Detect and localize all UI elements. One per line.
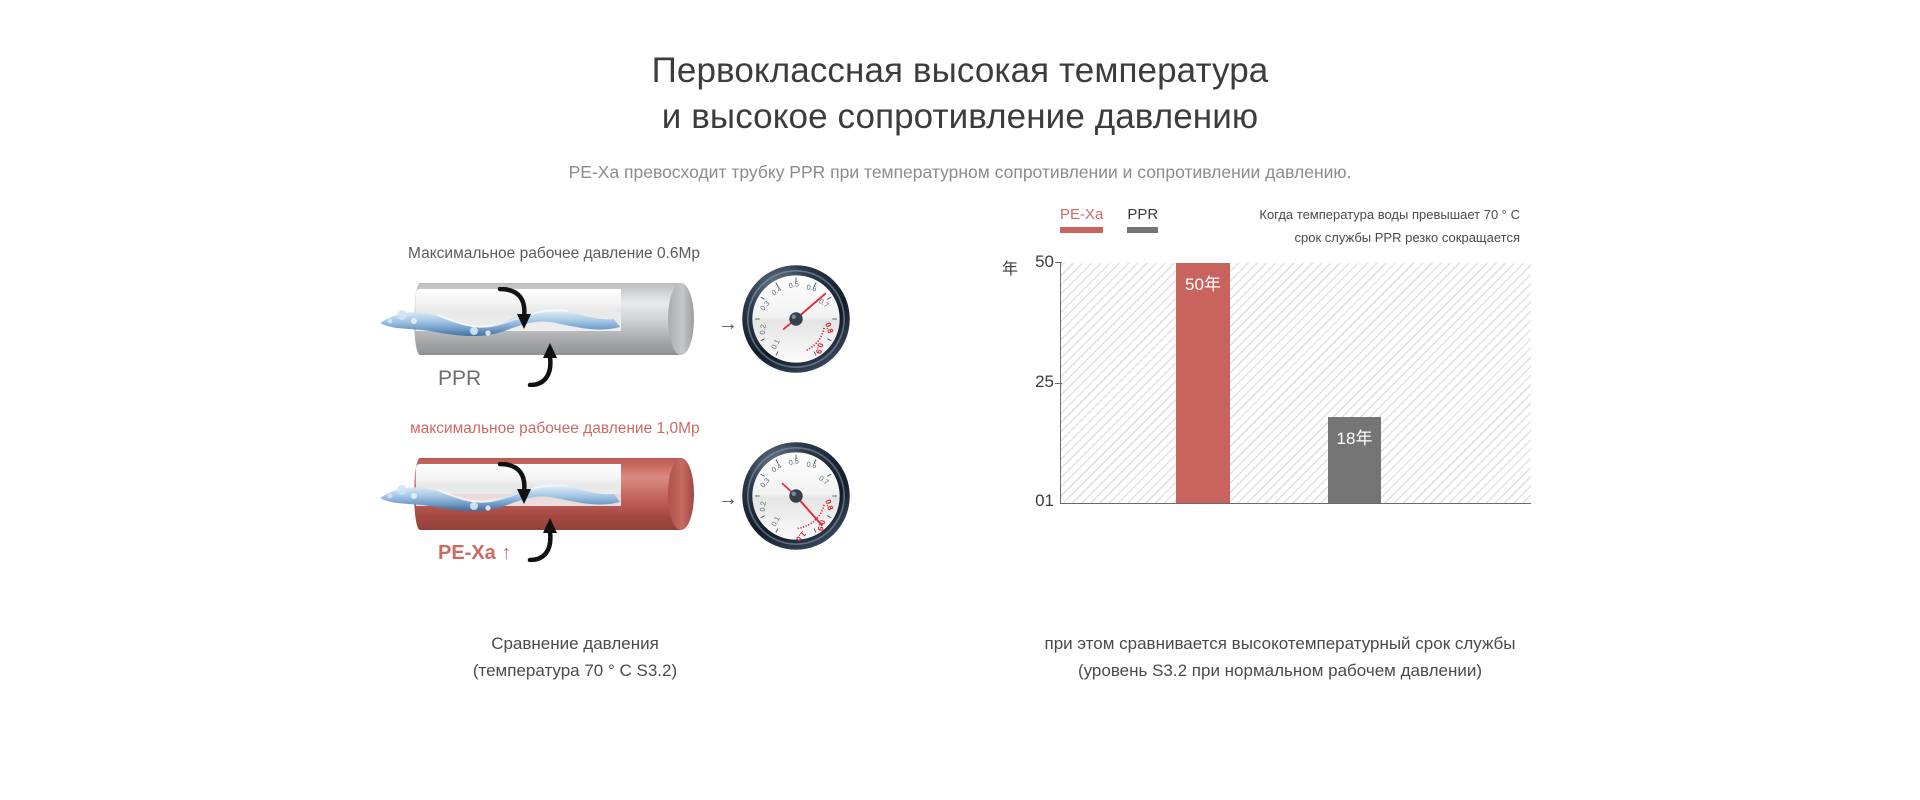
- service-life-caption-line-1: при этом сравнивается высокотемпературны…: [1000, 630, 1560, 657]
- pressure-caption-line-2: (температура 70 ° C S3.2): [380, 657, 770, 684]
- y-axis-unit-label: 年: [1002, 255, 1018, 279]
- flow-direction-arrow-icon: →: [718, 313, 738, 336]
- flow-direction-arrow-icon: →: [718, 488, 738, 511]
- infographic-canvas: Первоклассная высокая температура и высо…: [0, 0, 1920, 800]
- y-axis-tick-50: 50: [1022, 252, 1054, 272]
- ppr-pressure-label: Максимальное рабочее давление 0.6Mp: [408, 245, 700, 263]
- chart-note: Когда температура воды превышает 70 ° C …: [1200, 203, 1520, 249]
- y-axis-top-tick-mark: [1055, 262, 1062, 263]
- ppr-pipe-cap: [668, 283, 694, 355]
- page-title-line-2: и высокое сопротивление давлению: [0, 94, 1920, 140]
- legend-label-pexa: PE-Xa: [1060, 205, 1103, 224]
- bar-pexa[interactable]: 50年: [1176, 263, 1230, 503]
- legend-item-ppr: PPR: [1127, 205, 1158, 233]
- ppr-pressure-gauge: 0.1 0.2 0.3 0.4 0.5 0.6 0.7 0.8 0.9: [740, 263, 852, 375]
- page-header: Первоклассная высокая температура и высо…: [0, 48, 1920, 183]
- legend-swatch-ppr: [1127, 227, 1158, 233]
- y-axis-tick-25: 25: [1022, 372, 1054, 392]
- bar-label-pexa: 50年: [1185, 275, 1221, 294]
- svg-text:0.2: 0.2: [758, 501, 768, 512]
- legend-item-pexa: PE-Xa: [1060, 205, 1103, 233]
- legend-label-ppr: PPR: [1127, 205, 1158, 224]
- service-life-chart-panel: PE-Xa PPR Когда температура воды превыша…: [1000, 255, 1560, 585]
- pressure-comparison-panel: Максимальное рабочее давление 0.6Mp: [380, 255, 960, 585]
- service-life-caption-line-2: (уровень S3.2 при нормальном рабочем дав…: [1000, 657, 1560, 684]
- pressure-caption-line-1: Сравнение давления: [380, 630, 770, 657]
- page-subtitle: PE-Xa превосходит трубку PPR при темпера…: [0, 162, 1920, 183]
- bar-ppr[interactable]: 18年: [1328, 417, 1381, 503]
- chart-legend: PE-Xa PPR: [1060, 205, 1158, 233]
- pressure-comparison-caption: Сравнение давления (температура 70 ° C S…: [380, 630, 770, 684]
- pexa-pressure-label: максимальное рабочее давление 1,0Mp: [410, 420, 700, 438]
- pexa-pipe-inner-wall: [416, 486, 621, 506]
- chart-note-line-1: Когда температура воды превышает 70 ° C: [1200, 203, 1520, 226]
- bar-label-ppr: 18年: [1337, 429, 1373, 448]
- svg-text:0.2: 0.2: [758, 324, 768, 335]
- y-axis-tick-01: 01: [1022, 491, 1054, 511]
- ppr-pipe-inner-wall: [416, 311, 621, 331]
- page-title-line-1: Первоклассная высокая температура: [0, 48, 1920, 94]
- pexa-pipe-name: PE-Xa ↑: [438, 542, 511, 565]
- legend-swatch-pexa: [1060, 227, 1103, 233]
- pexa-pipe-cap: [668, 458, 694, 530]
- pexa-pipe-block: максимальное рабочее давление 1,0Mp: [380, 430, 960, 580]
- chart-note-line-2: срок службы PPR резко сокращается: [1200, 226, 1520, 249]
- ppr-pipe-graphic: →: [400, 283, 700, 355]
- ppr-pipe-name: PPR: [438, 367, 481, 391]
- ppr-pipe-block: Максимальное рабочее давление 0.6Mp: [380, 255, 960, 405]
- pexa-pipe-graphic: →: [400, 458, 700, 530]
- pexa-pressure-gauge: 0.1 0.2 0.3 0.4 0.5 0.6 0.7 0.8 0.9 1.0: [740, 440, 852, 552]
- y-axis-mid-tick-mark: [1055, 383, 1062, 384]
- service-life-caption: при этом сравнивается высокотемпературны…: [1000, 630, 1560, 684]
- chart-plot-area: 50年 18年: [1060, 263, 1531, 504]
